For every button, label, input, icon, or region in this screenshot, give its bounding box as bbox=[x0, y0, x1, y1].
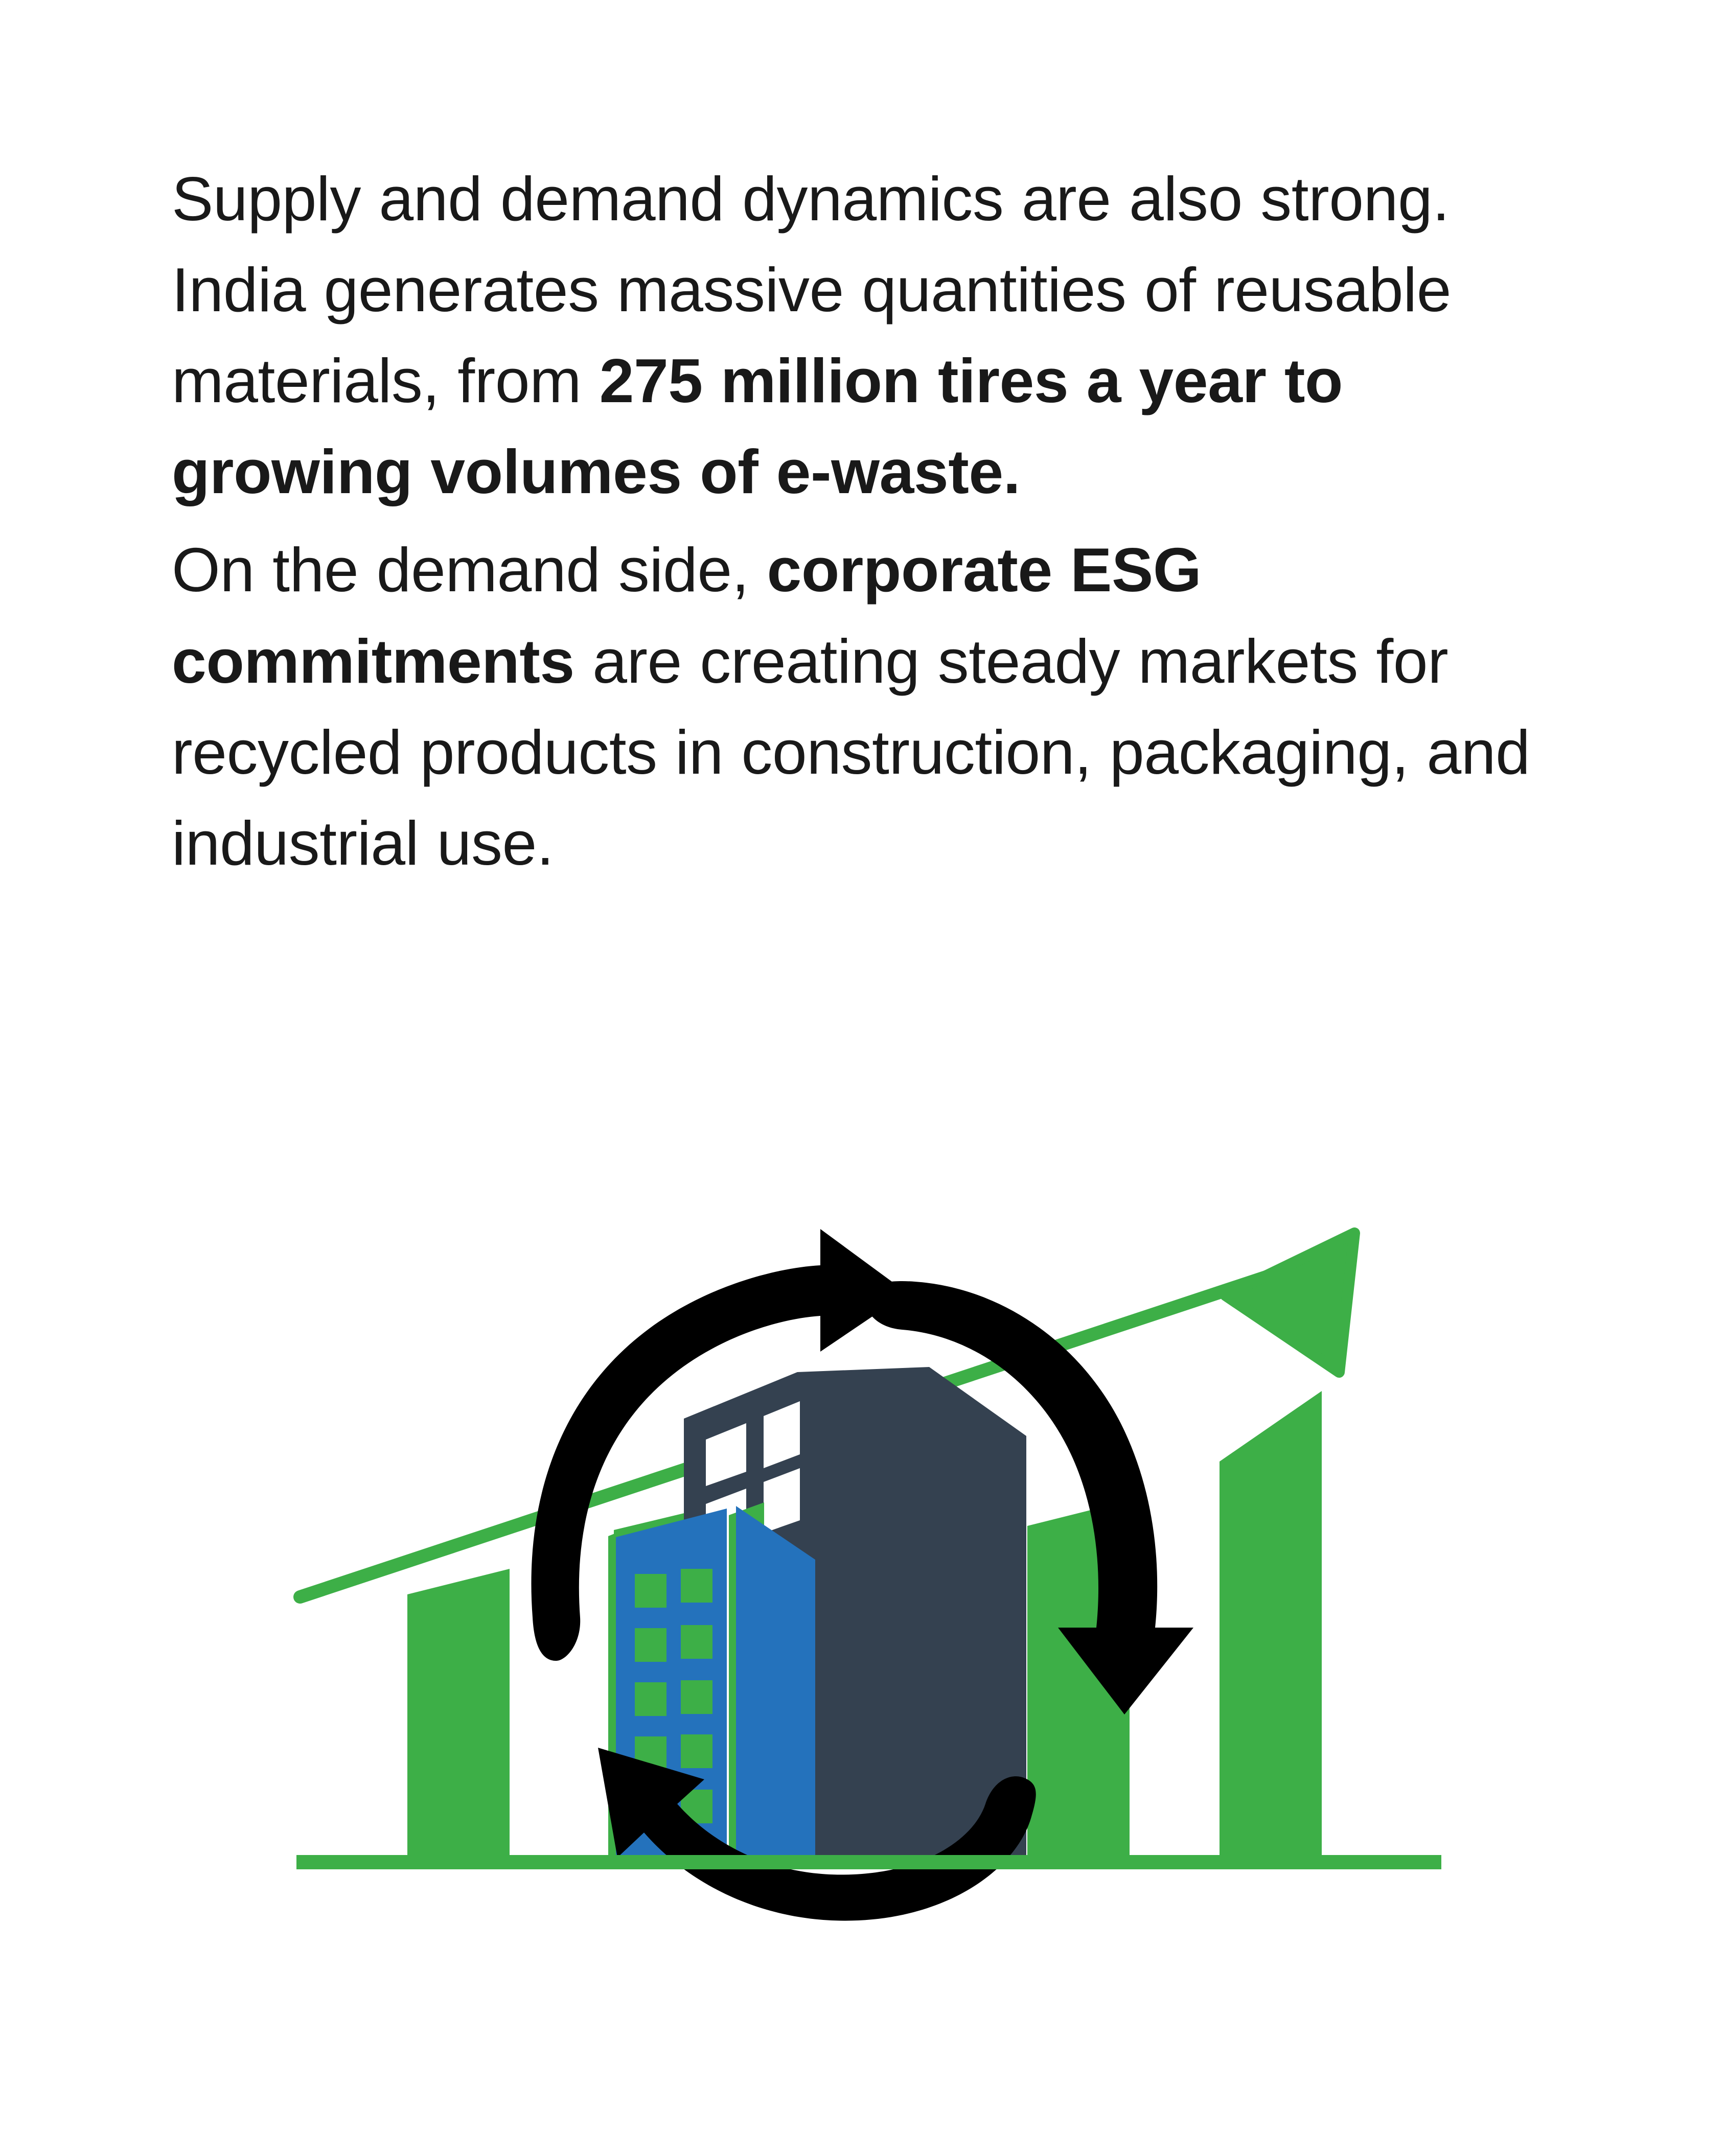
article-text-block: Supply and demand dynamics are also stro… bbox=[172, 153, 1562, 889]
blue-window-r1c1 bbox=[635, 1574, 666, 1608]
paragraph-supply-demand: Supply and demand dynamics are also stro… bbox=[172, 153, 1562, 517]
blue-window-r3c1 bbox=[635, 1682, 666, 1716]
bar-1 bbox=[407, 1569, 510, 1855]
page-canvas: Supply and demand dynamics are also stro… bbox=[0, 0, 1725, 2156]
blue-window-r4c2 bbox=[681, 1734, 712, 1768]
baseline bbox=[296, 1855, 1441, 1869]
blue-window-r1c2 bbox=[681, 1569, 712, 1603]
building-blue-right-face bbox=[736, 1506, 815, 1855]
illustration-svg bbox=[286, 1191, 1462, 1937]
trend-arrow-head bbox=[1226, 1233, 1354, 1372]
paragraph-demand-side: On the demand side, corporate ESG commit… bbox=[172, 524, 1562, 888]
paragraph-2-plain-lead: On the demand side, bbox=[172, 535, 767, 605]
sustainable-growth-illustration bbox=[286, 1191, 1462, 1937]
building-dark bbox=[684, 1367, 1026, 1855]
blue-window-r2c1 bbox=[635, 1628, 666, 1662]
bar-5 bbox=[1220, 1391, 1322, 1855]
blue-window-r2c2 bbox=[681, 1625, 712, 1659]
building-dark-right-slab bbox=[797, 1367, 929, 1855]
blue-window-r3c2 bbox=[681, 1680, 712, 1714]
